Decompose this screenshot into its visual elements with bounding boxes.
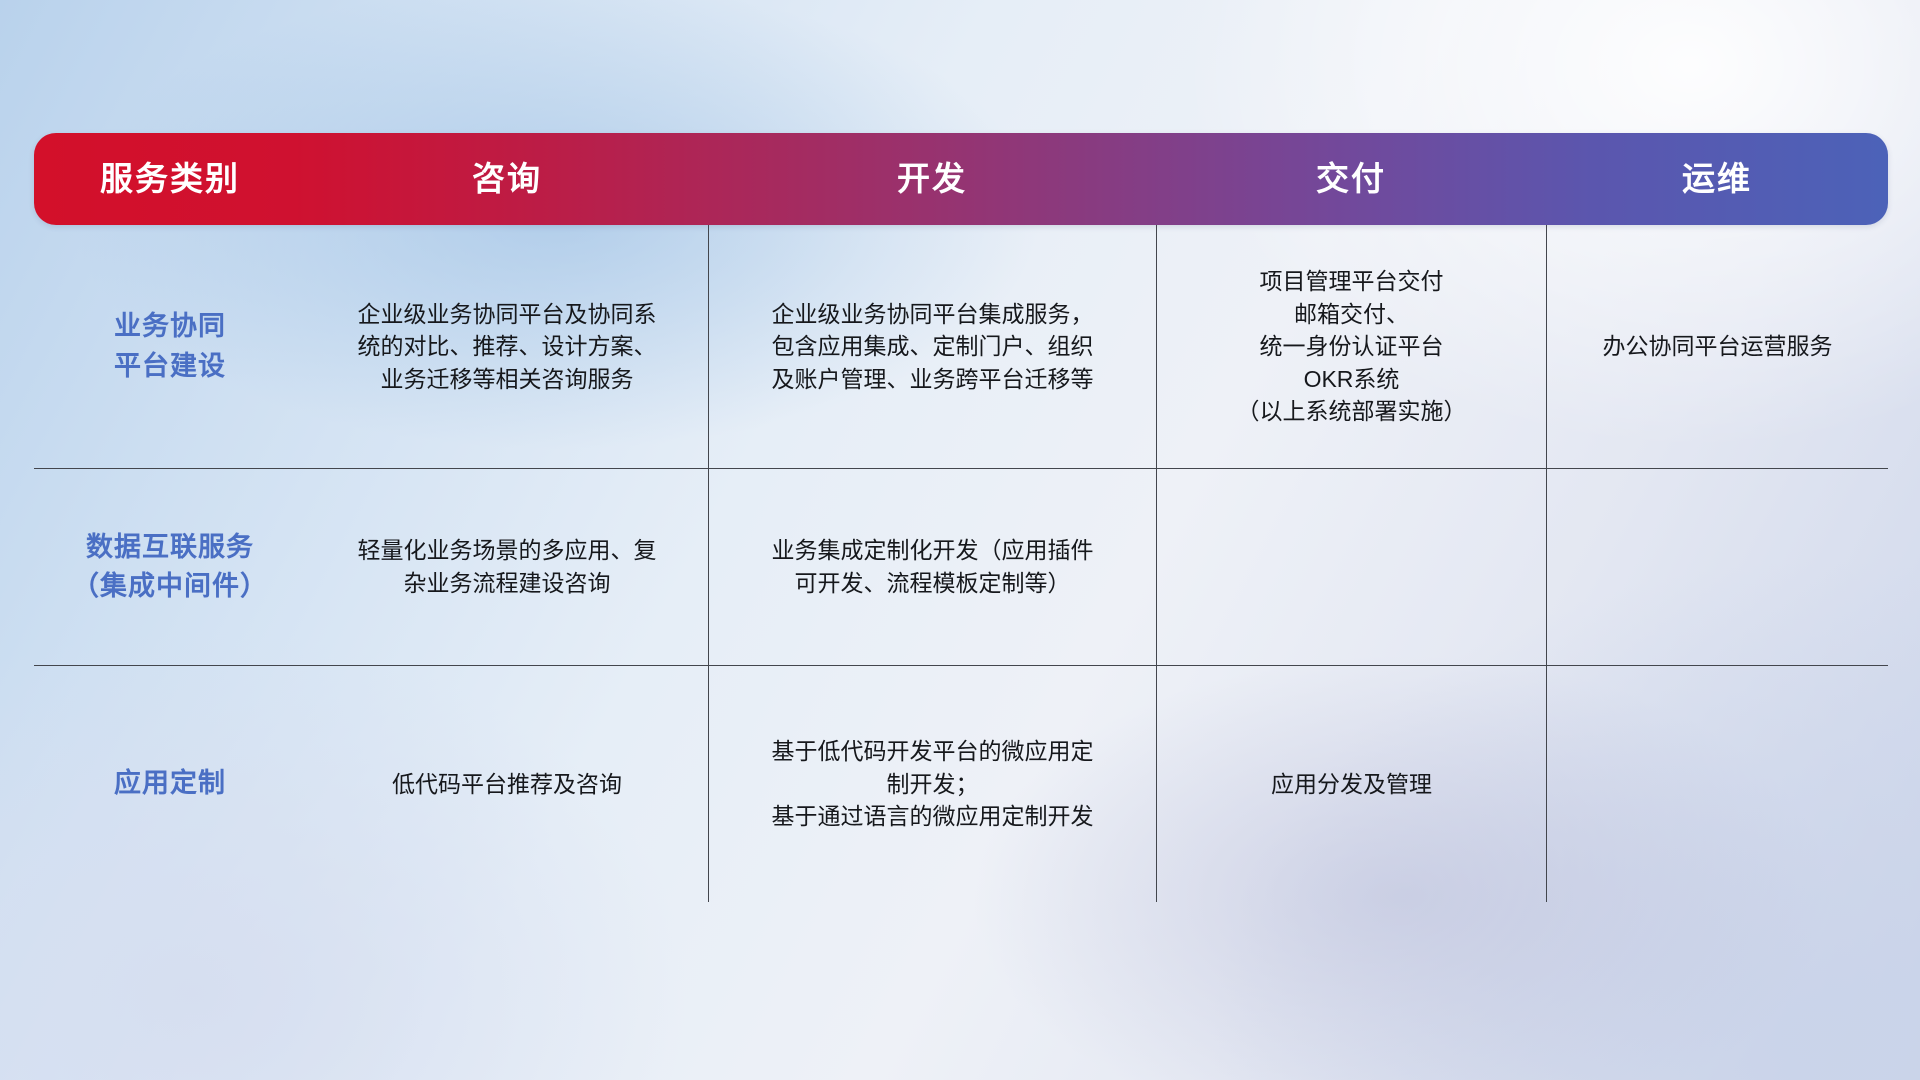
cell-delivery: 项目管理平台交付 邮箱交付、 统一身份认证平台 OKR系统 （以上系统部署实施） [1156, 225, 1546, 468]
cell-delivery [1156, 469, 1546, 665]
table-header-cell-consulting: 咨询 [306, 133, 708, 225]
table-header-label: 开发 [897, 162, 967, 195]
cell-operations [1546, 469, 1888, 665]
table-header-cell-development: 开发 [708, 133, 1156, 225]
cell-consulting: 轻量化业务场景的多应用、复 杂业务流程建设咨询 [306, 469, 708, 665]
cell-operations: 办公协同平台运营服务 [1546, 225, 1888, 468]
slide-canvas: 服务类别 咨询 开发 交付 运维 业务协同 平台建设 企业级业务协同平台及协同系… [0, 0, 1920, 1080]
service-category-table: 服务类别 咨询 开发 交付 运维 业务协同 平台建设 企业级业务协同平台及协同系… [34, 133, 1888, 902]
cell-delivery: 应用分发及管理 [1156, 666, 1546, 902]
table-header-cell-service-category: 服务类别 [34, 133, 306, 225]
cell-development: 业务集成定制化开发（应用插件 可开发、流程模板定制等） [708, 469, 1156, 665]
table-header-label: 咨询 [472, 162, 542, 195]
table-row: 数据互联服务 （集成中间件） 轻量化业务场景的多应用、复 杂业务流程建设咨询 业… [34, 468, 1888, 665]
table-header-label: 服务类别 [100, 162, 240, 195]
cell-consulting: 低代码平台推荐及咨询 [306, 666, 708, 902]
table-header-row: 服务类别 咨询 开发 交付 运维 [34, 133, 1888, 225]
cell-operations [1546, 666, 1888, 902]
row-category-label: 应用定制 [34, 666, 306, 902]
cell-development: 企业级业务协同平台集成服务， 包含应用集成、定制门户、组织 及账户管理、业务跨平… [708, 225, 1156, 468]
table-row: 应用定制 低代码平台推荐及咨询 基于低代码开发平台的微应用定 制开发； 基于通过… [34, 665, 1888, 902]
cell-consulting: 企业级业务协同平台及协同系 统的对比、推荐、设计方案、 业务迁移等相关咨询服务 [306, 225, 708, 468]
table-header-cell-delivery: 交付 [1156, 133, 1546, 225]
table-header-label: 运维 [1682, 162, 1752, 195]
table-body: 业务协同 平台建设 企业级业务协同平台及协同系 统的对比、推荐、设计方案、 业务… [34, 225, 1888, 902]
row-category-label: 业务协同 平台建设 [34, 225, 306, 468]
table-row: 业务协同 平台建设 企业级业务协同平台及协同系 统的对比、推荐、设计方案、 业务… [34, 225, 1888, 468]
table-header-cell-operations: 运维 [1546, 133, 1888, 225]
row-category-label: 数据互联服务 （集成中间件） [34, 469, 306, 665]
cell-development: 基于低代码开发平台的微应用定 制开发； 基于通过语言的微应用定制开发 [708, 666, 1156, 902]
table-header-label: 交付 [1316, 162, 1386, 195]
